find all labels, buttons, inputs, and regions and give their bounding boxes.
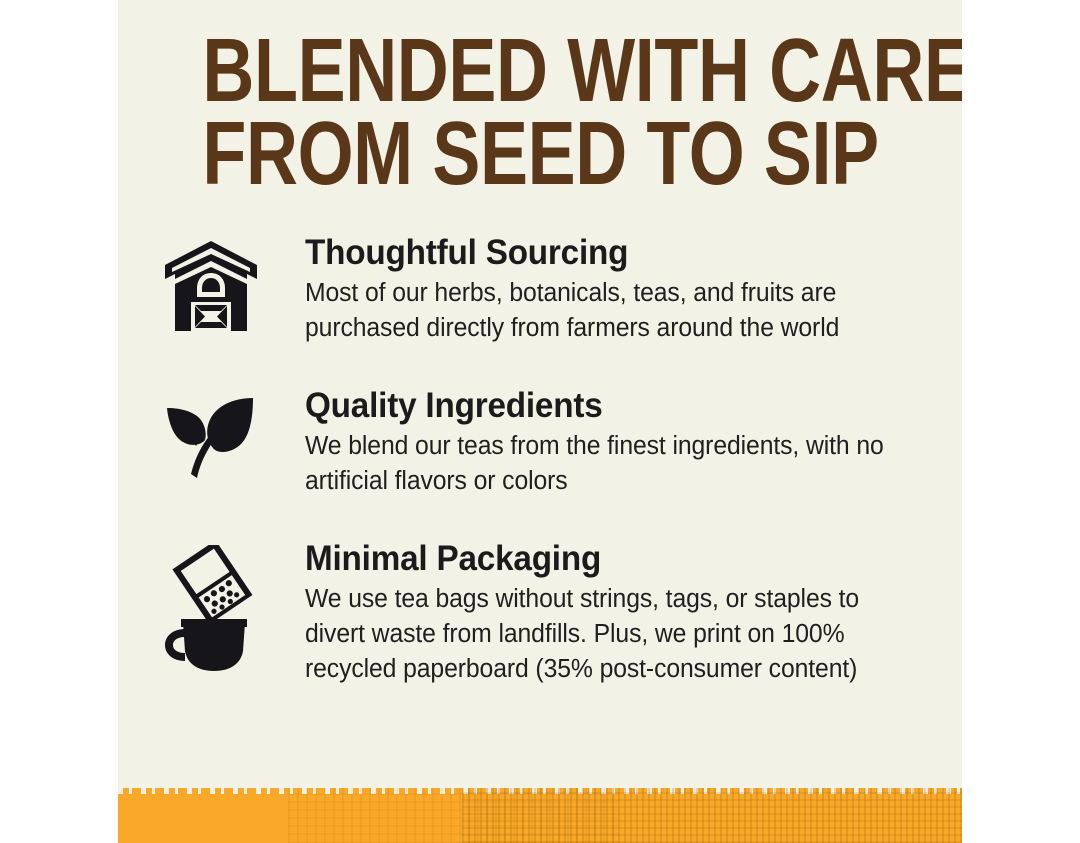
feature-item-quality-ingredients: Quality Ingredients We blend our teas fr…	[118, 386, 962, 499]
feature-text-block: Thoughtful Sourcing Most of our herbs, b…	[266, 233, 962, 346]
band-woven-texture	[462, 788, 962, 843]
barn-icon	[156, 233, 266, 337]
page-title: BLENDED WITH CARE FROM SEED TO SIP	[202, 30, 877, 196]
promotional-poster: BLENDED WITH CARE FROM SEED TO SIP	[0, 0, 1080, 843]
headline-line-2: FROM SEED TO SIP	[202, 113, 877, 196]
feature-body: We use tea bags without strings, tags, o…	[305, 582, 887, 687]
leaves-icon	[156, 386, 266, 490]
feature-title: Minimal Packaging	[305, 539, 929, 579]
feature-title: Quality Ingredients	[305, 386, 929, 426]
feature-item-minimal-packaging: Minimal Packaging We use tea bags withou…	[118, 539, 962, 687]
feature-body: Most of our herbs, botanicals, teas, and…	[305, 276, 887, 346]
feature-item-thoughtful-sourcing: Thoughtful Sourcing Most of our herbs, b…	[118, 233, 962, 346]
headline-line-1: BLENDED WITH CARE	[202, 30, 877, 113]
feature-body: We blend our teas from the finest ingred…	[305, 429, 887, 499]
teabag-mug-icon	[156, 539, 266, 643]
bottom-orange-band	[118, 788, 962, 843]
feature-list: Thoughtful Sourcing Most of our herbs, b…	[118, 233, 962, 727]
feature-title: Thoughtful Sourcing	[305, 233, 929, 273]
feature-text-block: Quality Ingredients We blend our teas fr…	[266, 386, 962, 499]
feature-text-block: Minimal Packaging We use tea bags withou…	[266, 539, 962, 687]
cream-content-panel: BLENDED WITH CARE FROM SEED TO SIP	[118, 0, 962, 843]
